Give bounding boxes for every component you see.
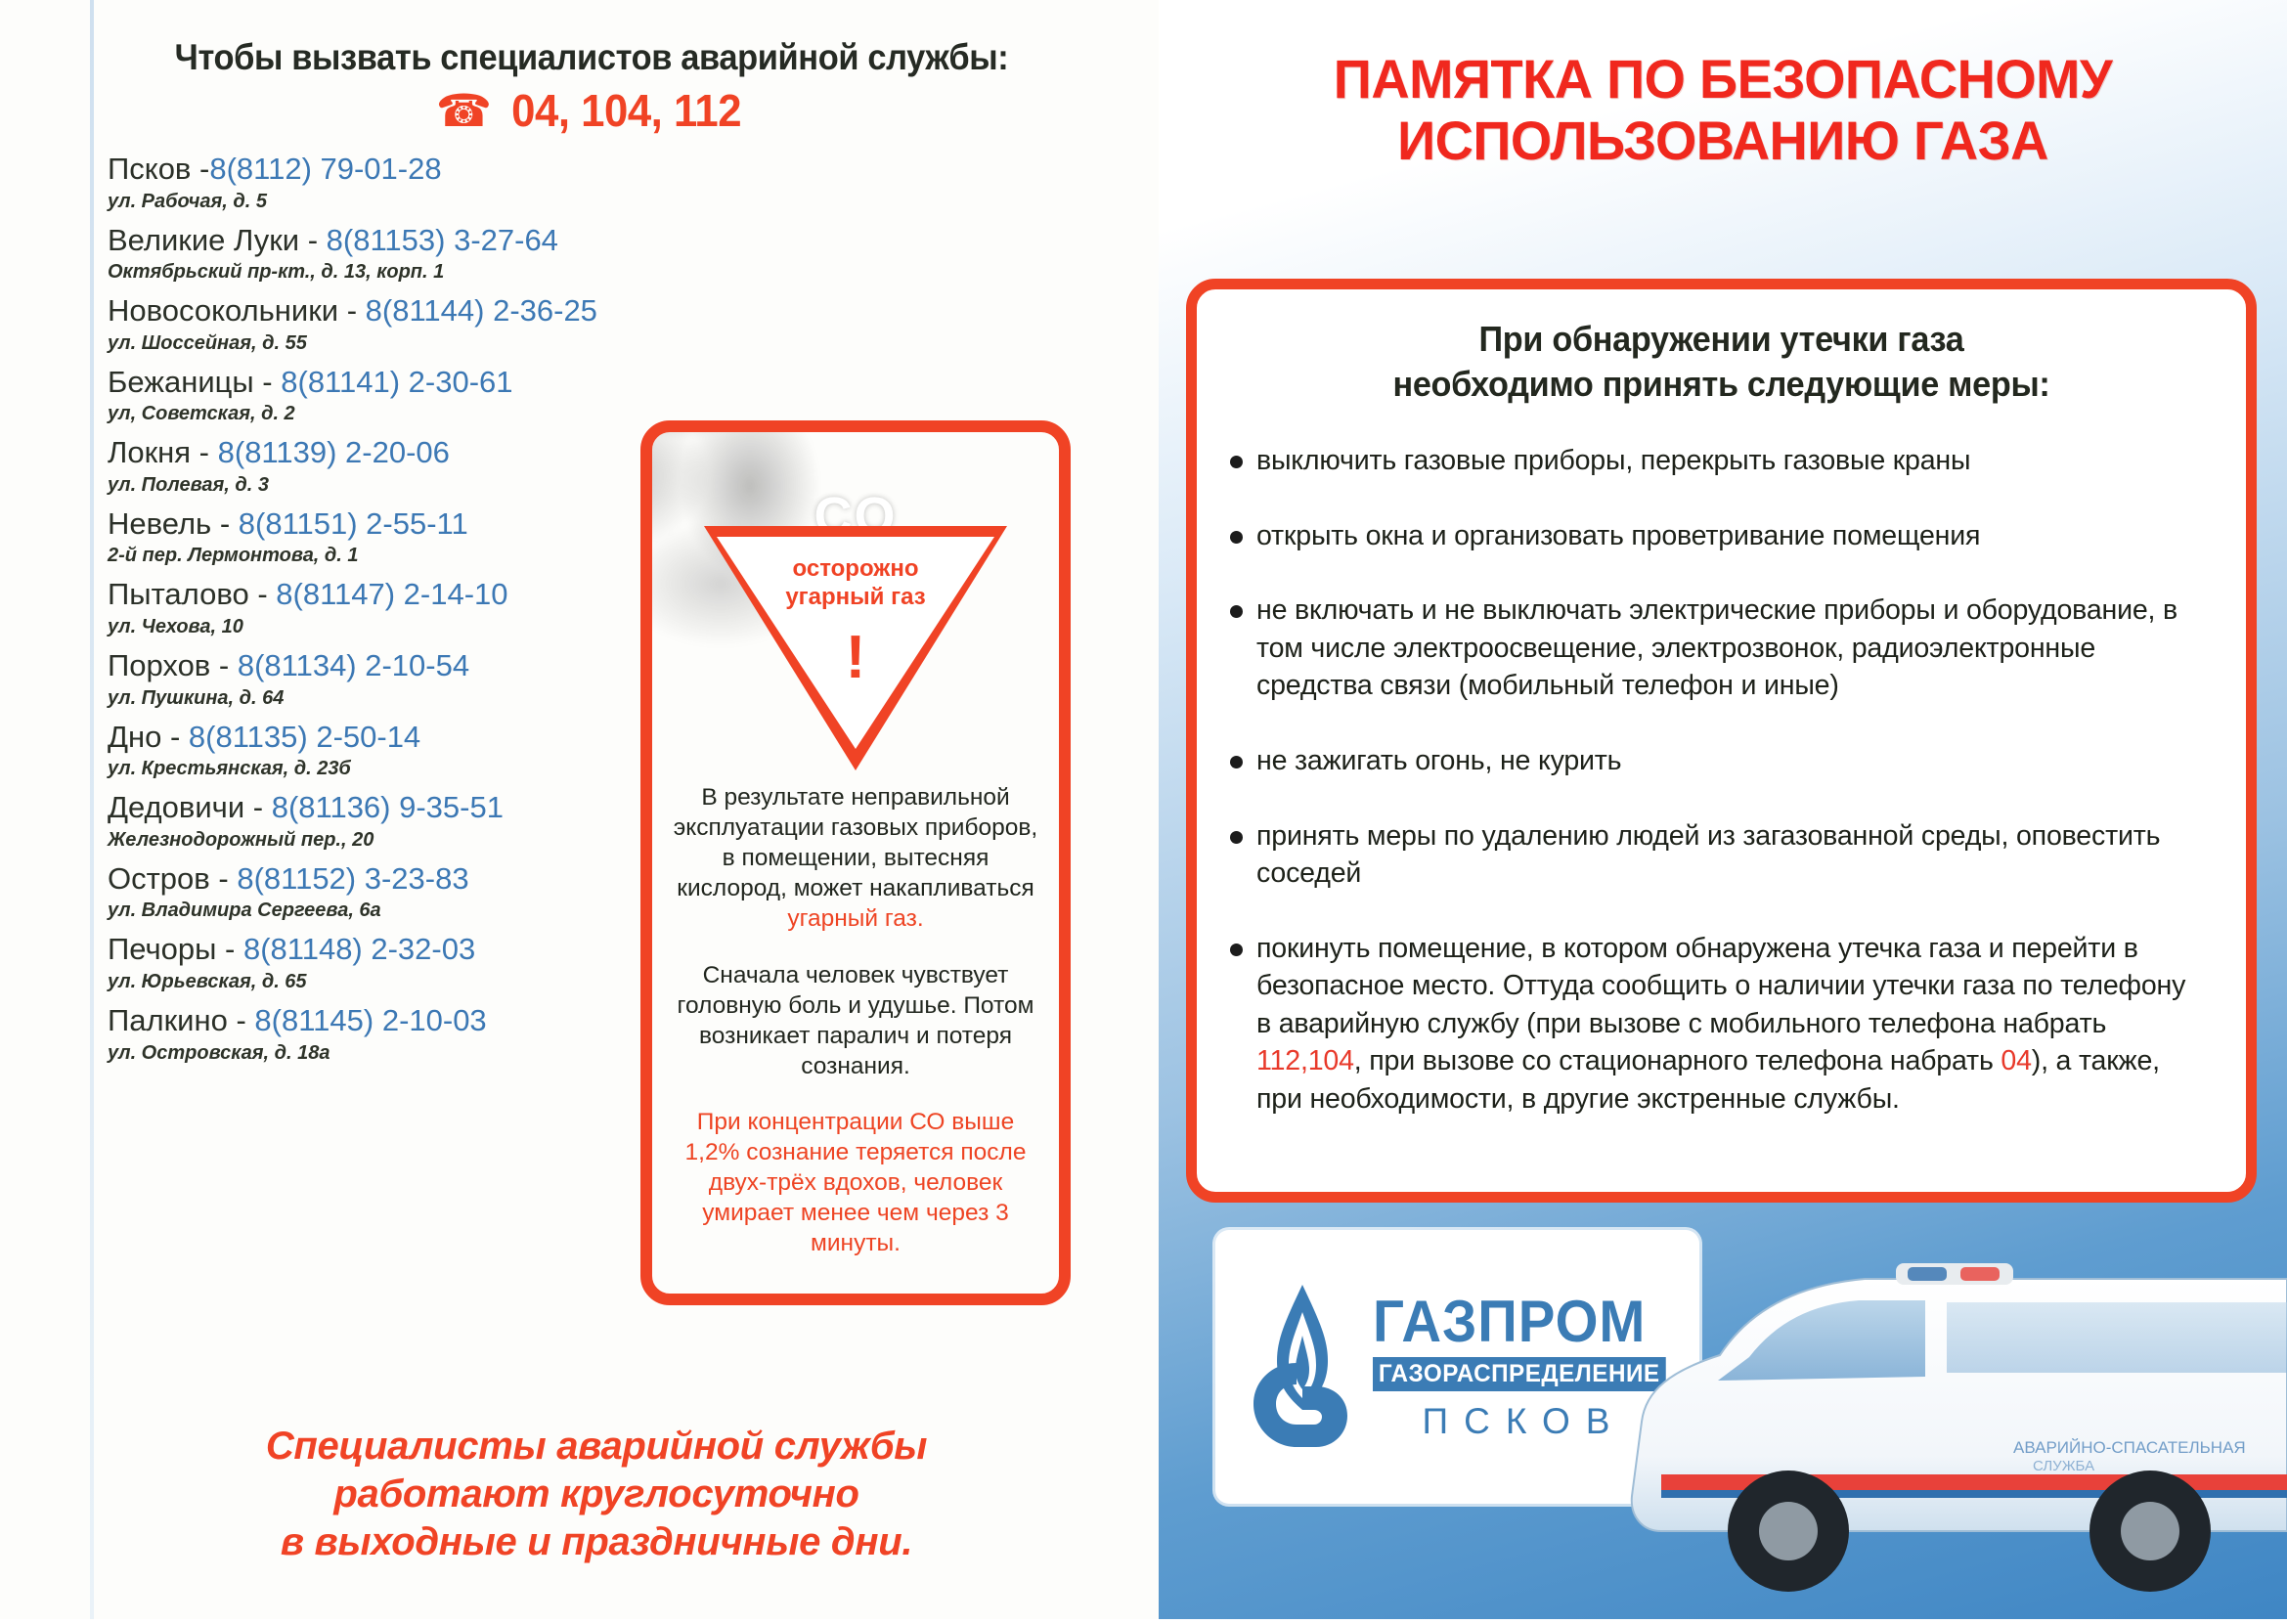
logo-region-name: ПСКОВ xyxy=(1373,1401,1675,1442)
logo-company-name: ГАЗПРОМ xyxy=(1373,1293,1656,1351)
bullet-dot-icon xyxy=(1230,531,1243,544)
bullet-dot-icon xyxy=(1230,831,1243,844)
gazprom-logo: ГАЗПРОМ ГАЗОРАСПРЕДЕЛЕНИЕ ПСКОВ xyxy=(1215,1230,1699,1504)
bullet-dot-icon xyxy=(1230,944,1243,956)
city-contact-row: Бежаницы - 8(81141) 2-30-61ул, Советская… xyxy=(108,365,772,427)
landline-emergency-number: 04 xyxy=(2001,1045,2031,1076)
emergency-numbers-row: ☎ 04, 104, 112 xyxy=(98,84,1085,137)
city-separator: - xyxy=(249,577,277,611)
city-name: Печоры xyxy=(108,932,216,966)
city-name: Дно xyxy=(108,720,161,754)
city-name: Новосокольники xyxy=(108,293,338,328)
city-name: Локня xyxy=(108,435,191,469)
city-phone-number[interactable]: 8(81134) 2-10-54 xyxy=(238,648,469,682)
city-phone-number[interactable]: 8(81153) 3-27-64 xyxy=(327,223,558,257)
exclamation-mark-icon: ! xyxy=(704,628,1007,688)
logo-inner: ГАЗПРОМ ГАЗОРАСПРЕДЕЛЕНИЕ ПСКОВ xyxy=(1224,1279,1691,1455)
bullet-item: не зажигать огонь, не курить xyxy=(1230,742,2213,780)
bullet-item-last: покинуть помещение, в котором обнаружена… xyxy=(1230,930,2213,1119)
carbon-monoxide-warning-card: CO осторожноугарный газ ! В результате н… xyxy=(640,420,1071,1305)
emergency-service-van-image: АВАРИЙНО-СПАСАТЕЛЬНАЯ СЛУЖБА xyxy=(1603,1208,2287,1619)
city-contact-row: Новосокольники - 8(81144) 2-36-25ул. Шос… xyxy=(108,293,772,356)
city-phone-number[interactable]: 8(81151) 2-55-11 xyxy=(239,506,468,541)
city-separator: - xyxy=(244,790,272,824)
svg-text:АВАРИЙНО-СПАСАТЕЛЬНАЯ: АВАРИЙНО-СПАСАТЕЛЬНАЯ xyxy=(2013,1438,2246,1457)
co-paragraph-2: Сначала человек чувствует головную боль … xyxy=(670,960,1041,1081)
city-phone-number[interactable]: 8(81141) 2-30-61 xyxy=(281,365,512,399)
co-p1-before: В результате неправильной эксплуатации г… xyxy=(674,784,1037,901)
city-name: Палкино xyxy=(108,1003,228,1037)
mobile-emergency-numbers: 112,104 xyxy=(1256,1045,1354,1076)
city-name: Дедовичи xyxy=(108,790,244,824)
city-phone-line: Бежаницы - 8(81141) 2-30-61 xyxy=(108,365,772,401)
city-phone-number[interactable]: 8(81147) 2-14-10 xyxy=(276,577,507,611)
bullet-item: открыть окна и организовать проветривани… xyxy=(1230,517,2213,555)
city-separator: - xyxy=(191,435,218,469)
left-edge-strip xyxy=(90,0,94,1619)
city-phone-number[interactable]: 8(81152) 3-23-83 xyxy=(237,861,468,896)
bullet-text: выключить газовые приборы, перекрыть газ… xyxy=(1256,442,1970,480)
city-contact-row: Псков -8(8112) 79-01-28ул. Рабочая, д. 5 xyxy=(108,152,772,214)
call-service-title: Чтобы вызвать специалистов аварийной слу… xyxy=(132,37,1050,78)
city-phone-number[interactable]: 8(81135) 2-50-14 xyxy=(189,720,420,754)
city-separator: - xyxy=(161,720,189,754)
co-paragraph-1: В результате неправильной эксплуатации г… xyxy=(670,782,1041,935)
city-address: ул. Шоссейная, д. 55 xyxy=(108,330,772,356)
poster-main-heading: ПАМЯТКА ПО БЕЗОПАСНОМУИСПОЛЬЗОВАНИЮ ГАЗА xyxy=(1175,49,2269,171)
measures-card: При обнаружении утечки газанеобходимо пр… xyxy=(1186,279,2257,1203)
city-name: Великие Луки xyxy=(108,223,299,257)
city-separator: - xyxy=(211,506,239,541)
bullet-dot-icon xyxy=(1230,456,1243,468)
city-separator: - xyxy=(254,365,282,399)
triangle-caption: осторожноугарный газ xyxy=(704,555,1007,612)
bullet-text: открыть окна и организовать проветривани… xyxy=(1256,517,1980,555)
city-separator: - xyxy=(210,861,238,896)
gas-safety-poster: Чтобы вызвать специалистов аварийной слу… xyxy=(0,0,2287,1619)
city-separator: - xyxy=(191,152,209,186)
logo-text-group: ГАЗПРОМ ГАЗОРАСПРЕДЕЛЕНИЕ ПСКОВ xyxy=(1373,1293,1675,1442)
warning-triangle-icon: осторожноугарный газ ! xyxy=(704,526,1007,770)
city-phone-number[interactable]: 8(81144) 2-36-25 xyxy=(366,293,597,328)
bullet-dot-icon xyxy=(1230,605,1243,618)
city-name: Невель xyxy=(108,506,211,541)
city-address: Октябрьский пр-кт., д. 13, корп. 1 xyxy=(108,259,772,285)
city-name: Бежаницы xyxy=(108,365,254,399)
measures-title: При обнаружении утечки газанеобходимо пр… xyxy=(1254,317,2188,407)
bullet-item: принять меры по удалению людей из загазо… xyxy=(1230,817,2213,893)
city-name: Порхов xyxy=(108,648,210,682)
city-separator: - xyxy=(216,932,243,966)
city-phone-number[interactable]: 8(81148) 2-32-03 xyxy=(243,932,475,966)
service-hours-note: Специалисты аварийной службыработают кру… xyxy=(98,1423,1095,1565)
bullet-text: не включать и не выключать электрические… xyxy=(1256,592,2198,705)
city-phone-line: Псков -8(8112) 79-01-28 xyxy=(108,152,772,188)
city-separator: - xyxy=(338,293,366,328)
bullet-last-text: покинуть помещение, в котором обнаружена… xyxy=(1256,930,2198,1119)
gazprom-flame-icon xyxy=(1240,1279,1365,1455)
telephone-icon: ☎ xyxy=(436,88,492,133)
city-phone-number[interactable]: 8(81145) 2-10-03 xyxy=(254,1003,486,1037)
city-address: ул. Рабочая, д. 5 xyxy=(108,189,772,214)
bullet-text: не зажигать огонь, не курить xyxy=(1256,742,1621,780)
bullet-text: принять меры по удалению людей из загазо… xyxy=(1256,817,2198,893)
bullet-item: не включать и не выключать электрические… xyxy=(1230,592,2213,705)
last-bullet-part2: , при вызове со стационарного телефона н… xyxy=(1354,1045,2001,1076)
city-name: Псков xyxy=(108,152,191,186)
bullet-dot-icon xyxy=(1230,756,1243,768)
co-body-text: В результате неправильной эксплуатации г… xyxy=(670,782,1041,1259)
svg-text:СЛУЖБА: СЛУЖБА xyxy=(2033,1458,2094,1474)
measures-bullet-list: выключить газовые приборы, перекрыть газ… xyxy=(1230,442,2213,893)
city-phone-line: Новосокольники - 8(81144) 2-36-25 xyxy=(108,293,772,329)
city-phone-number[interactable]: 8(81139) 2-20-06 xyxy=(218,435,450,469)
city-name: Остров xyxy=(108,861,210,896)
city-phone-number[interactable]: 8(8112) 79-01-28 xyxy=(209,152,441,186)
city-separator: - xyxy=(299,223,327,257)
emergency-numbers: 04, 104, 112 xyxy=(511,84,741,137)
bullet-item: выключить газовые приборы, перекрыть газ… xyxy=(1230,442,2213,480)
city-name: Пыталово xyxy=(108,577,249,611)
city-contact-row: Великие Луки - 8(81153) 3-27-64Октябрьск… xyxy=(108,223,772,285)
city-phone-line: Великие Луки - 8(81153) 3-27-64 xyxy=(108,223,772,259)
city-separator: - xyxy=(210,648,238,682)
city-separator: - xyxy=(228,1003,255,1037)
right-panel: ПАМЯТКА ПО БЕЗОПАСНОМУИСПОЛЬЗОВАНИЮ ГАЗА… xyxy=(1159,0,2287,1619)
co-p1-highlight: угарный газ. xyxy=(787,905,923,932)
last-bullet-part1: покинуть помещение, в котором обнаружена… xyxy=(1256,933,2185,1039)
city-phone-number[interactable]: 8(81136) 9-35-51 xyxy=(272,790,504,824)
co-paragraph-3: При концентрации СО выше 1,2% сознание т… xyxy=(670,1107,1041,1259)
logo-division-name: ГАЗОРАСПРЕДЕЛЕНИЕ xyxy=(1373,1357,1665,1391)
left-panel: Чтобы вызвать специалистов аварийной слу… xyxy=(0,0,1159,1619)
